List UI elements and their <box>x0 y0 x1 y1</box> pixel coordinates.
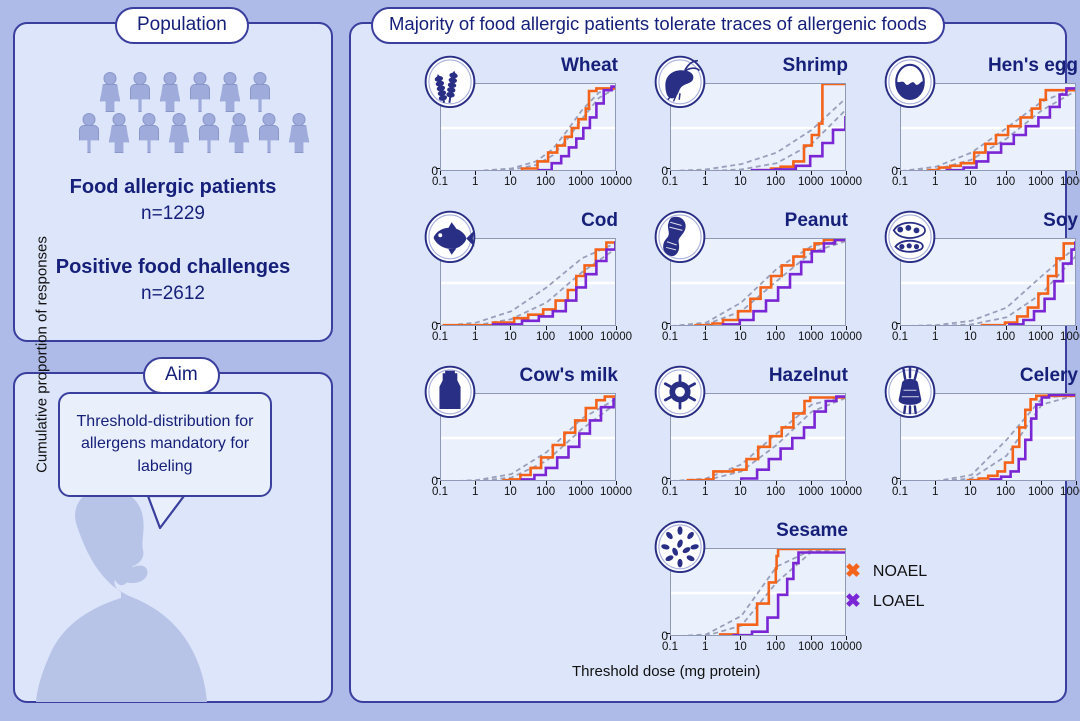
y-tick-mark <box>436 168 440 169</box>
chart-panel-title: Sesame <box>776 520 848 542</box>
person-icon <box>157 72 183 110</box>
x-tick-label: 10000 <box>830 486 862 498</box>
x-tick-mark <box>581 171 582 175</box>
x-tick-label: 100 <box>996 486 1015 498</box>
chart-panel-title: Peanut <box>785 210 848 232</box>
x-tick-mark <box>1006 326 1007 330</box>
sesame-icon <box>654 516 706 573</box>
x-tick-label: 100 <box>996 331 1015 343</box>
wheat-icon <box>424 51 476 107</box>
x-tick-mark <box>546 481 547 485</box>
x-tick-mark <box>846 171 847 175</box>
graphical-abstract: Population Food allergic patients n=1229… <box>0 0 1080 721</box>
x-tick-mark <box>510 171 511 175</box>
person-icon <box>286 113 312 151</box>
person-body-icon <box>190 84 210 112</box>
x-tick-label: 1000 <box>1028 486 1054 498</box>
x-tick-mark <box>1076 326 1077 330</box>
speech-bubble-tail <box>146 494 186 530</box>
person-icon <box>217 72 243 110</box>
shrimp-icon <box>654 51 706 108</box>
x-tick-mark <box>616 481 617 485</box>
x-tick-label: 1 <box>702 331 708 343</box>
person-head-icon <box>104 72 117 85</box>
chart-panel-cod: Cod100.1110100100010000 <box>418 210 618 360</box>
person-head-icon <box>254 72 267 85</box>
soy-icon <box>884 206 936 262</box>
x-tick-label: 0.1 <box>892 176 908 188</box>
x-tick-label: 10000 <box>830 641 862 653</box>
person-body-icon <box>139 125 159 153</box>
cod-icon <box>424 206 476 262</box>
x-tick-label: 10 <box>734 486 747 498</box>
x-tick-label: 10000 <box>600 486 632 498</box>
positive-food-challenges-label: Positive food challenges <box>13 256 333 279</box>
y-tick-mark <box>436 323 440 324</box>
chart-panel-wheat: Wheat100.1110100100010000 <box>418 55 618 205</box>
milk-icon <box>424 361 476 418</box>
thinking-person-silhouette <box>25 480 230 702</box>
x-tick-mark <box>776 171 777 175</box>
y-tick-mark <box>896 168 900 169</box>
chart-panel-peanut: Peanut100.1110100100010000 <box>648 210 848 360</box>
x-tick-mark <box>900 171 901 175</box>
legend-label: LOAEL <box>873 593 925 611</box>
x-tick-mark <box>1076 171 1077 175</box>
x-tick-label: 1 <box>702 176 708 188</box>
x-tick-label: 1 <box>472 176 478 188</box>
x-tick-label: 1000 <box>798 641 824 653</box>
x-tick-mark <box>740 171 741 175</box>
y-tick-mark <box>896 478 900 479</box>
peanut-icon <box>654 206 706 263</box>
x-tick-label: 1 <box>702 486 708 498</box>
person-icon <box>106 113 132 151</box>
x-tick-label: 1000 <box>1028 176 1054 188</box>
x-tick-label: 1 <box>472 331 478 343</box>
person-body-icon <box>169 125 189 153</box>
x-tick-mark <box>440 481 441 485</box>
x-tick-label: 10 <box>734 331 747 343</box>
y-axis-label: Cumulative proportion of responses <box>34 230 51 480</box>
x-tick-mark <box>970 481 971 485</box>
y-tick-mark <box>666 168 670 169</box>
x-tick-mark <box>1006 171 1007 175</box>
x-tick-mark <box>670 171 671 175</box>
chart-panel-hen-s-egg: Hen's egg100.1110100100010000 <box>878 55 1078 205</box>
x-tick-mark <box>935 171 936 175</box>
x-tick-mark <box>705 171 706 175</box>
chart-panel-sesame: Sesame100.1110100100010000 <box>648 520 848 670</box>
x-tick-label: 100 <box>766 331 785 343</box>
x-tick-mark <box>846 326 847 330</box>
population-panel-title: Population <box>115 7 249 44</box>
person-icon <box>166 113 192 151</box>
person-body-icon <box>289 125 309 153</box>
person-head-icon <box>194 72 207 85</box>
x-tick-mark <box>616 171 617 175</box>
x-tick-label: 10000 <box>1060 176 1080 188</box>
person-head-icon <box>83 113 96 126</box>
x-tick-label: 10000 <box>1060 486 1080 498</box>
x-tick-mark <box>581 481 582 485</box>
person-icon <box>127 72 153 110</box>
x-tick-mark <box>546 171 547 175</box>
x-tick-mark <box>811 326 812 330</box>
x-axis: 0.1110100100010000 <box>440 171 616 193</box>
x-tick-mark <box>970 171 971 175</box>
x-tick-label: 0.1 <box>432 331 448 343</box>
x-tick-mark <box>1006 481 1007 485</box>
x-tick-label: 0.1 <box>662 641 678 653</box>
chart-panel-cow-s-milk: Cow's milk100.1110100100010000 <box>418 365 618 515</box>
chart-panel-title: Hen's egg <box>988 55 1078 77</box>
x-tick-mark <box>935 326 936 330</box>
aim-panel-title: Aim <box>143 357 220 394</box>
x-axis: 0.1110100100010000 <box>670 636 846 658</box>
x-tick-mark <box>740 481 741 485</box>
y-tick-mark <box>666 323 670 324</box>
x-tick-label: 100 <box>536 486 555 498</box>
hazelnut-icon <box>654 361 706 417</box>
food-allergic-patients-count: n=1229 <box>13 203 333 225</box>
celery-icon <box>884 361 936 418</box>
food-allergic-patients-label: Food allergic patients <box>13 176 333 199</box>
x-tick-label: 10000 <box>600 331 632 343</box>
person-icon <box>247 72 273 110</box>
y-tick-mark <box>896 323 900 324</box>
person-head-icon <box>134 72 147 85</box>
x-tick-label: 10 <box>964 331 977 343</box>
person-icon <box>196 113 222 151</box>
egg-icon <box>884 51 936 108</box>
x-axis: 0.1110100100010000 <box>900 481 1076 503</box>
chart-panel-shrimp: Shrimp100.1110100100010000 <box>648 55 848 205</box>
x-axis: 0.1110100100010000 <box>670 481 846 503</box>
person-icon <box>97 72 123 110</box>
legend-item: ✖NOAEL <box>845 562 927 581</box>
x-tick-mark <box>670 481 671 485</box>
legend-marker-icon: ✖ <box>845 562 861 581</box>
x-tick-label: 10000 <box>830 331 862 343</box>
x-tick-label: 0.1 <box>662 176 678 188</box>
person-body-icon <box>79 125 99 153</box>
x-tick-label: 0.1 <box>662 331 678 343</box>
x-tick-mark <box>1076 481 1077 485</box>
x-tick-mark <box>1041 171 1042 175</box>
person-body-icon <box>250 84 270 112</box>
chart-panel-title: Celery <box>1020 365 1078 387</box>
x-axis: 0.1110100100010000 <box>670 326 846 348</box>
x-tick-mark <box>776 481 777 485</box>
person-icon <box>256 113 282 151</box>
chart-legend: ✖NOAEL✖LOAEL <box>845 562 927 622</box>
y-tick-mark <box>666 633 670 634</box>
x-tick-mark <box>581 326 582 330</box>
hazelnut-icon <box>654 361 706 418</box>
x-tick-mark <box>846 481 847 485</box>
peanut-icon <box>654 206 706 262</box>
x-tick-mark <box>1041 326 1042 330</box>
chart-panel-title: Hazelnut <box>769 365 848 387</box>
sesame-icon <box>654 516 706 572</box>
x-tick-label: 1 <box>932 331 938 343</box>
chart-panel-soy: Soy100.1110100100010000 <box>878 210 1078 360</box>
x-tick-label: 1 <box>472 486 478 498</box>
milk-icon <box>424 361 476 417</box>
x-tick-label: 100 <box>536 331 555 343</box>
people-row-1 <box>97 72 273 110</box>
chart-panel-hazelnut: Hazelnut100.1110100100010000 <box>648 365 848 515</box>
x-tick-mark <box>740 636 741 640</box>
x-tick-mark <box>740 326 741 330</box>
x-tick-mark <box>935 481 936 485</box>
x-tick-mark <box>510 481 511 485</box>
x-tick-label: 10 <box>504 176 517 188</box>
x-tick-mark <box>900 326 901 330</box>
x-tick-label: 10000 <box>830 176 862 188</box>
person-head-icon <box>113 113 126 126</box>
person-body-icon <box>220 84 240 112</box>
person-head-icon <box>173 113 186 126</box>
x-tick-label: 1000 <box>568 176 594 188</box>
x-tick-mark <box>846 636 847 640</box>
chart-panel-title: Shrimp <box>783 55 848 77</box>
x-tick-label: 1000 <box>798 331 824 343</box>
person-body-icon <box>199 125 219 153</box>
person-body-icon <box>160 84 180 112</box>
aim-speech-bubble: Threshold-distribution for allergens man… <box>58 392 272 497</box>
x-tick-label: 0.1 <box>662 486 678 498</box>
y-tick-mark <box>436 478 440 479</box>
wheat-icon <box>424 51 476 108</box>
x-tick-label: 1000 <box>568 486 594 498</box>
x-tick-mark <box>475 326 476 330</box>
x-tick-label: 10 <box>504 486 517 498</box>
x-tick-label: 100 <box>996 176 1015 188</box>
x-tick-label: 1 <box>932 176 938 188</box>
x-tick-mark <box>776 636 777 640</box>
x-tick-mark <box>546 326 547 330</box>
x-tick-mark <box>811 636 812 640</box>
person-head-icon <box>233 113 246 126</box>
person-head-icon <box>224 72 237 85</box>
person-body-icon <box>109 125 129 153</box>
x-tick-mark <box>475 481 476 485</box>
x-tick-mark <box>705 636 706 640</box>
x-tick-label: 1 <box>932 486 938 498</box>
x-tick-mark <box>705 481 706 485</box>
legend-marker-icon: ✖ <box>845 592 861 611</box>
x-tick-mark <box>440 171 441 175</box>
soy-icon <box>884 206 936 263</box>
x-tick-mark <box>1041 481 1042 485</box>
chart-panel-title: Cod <box>581 210 618 232</box>
legend-item: ✖LOAEL <box>845 592 927 611</box>
x-tick-mark <box>811 171 812 175</box>
egg-icon <box>884 51 936 107</box>
x-tick-label: 10 <box>734 641 747 653</box>
person-icon <box>187 72 213 110</box>
person-head-icon <box>293 113 306 126</box>
chart-panel-title: Wheat <box>561 55 618 77</box>
x-tick-label: 0.1 <box>892 331 908 343</box>
x-axis: 0.1110100100010000 <box>440 326 616 348</box>
x-tick-label: 0.1 <box>432 176 448 188</box>
x-tick-label: 10000 <box>1060 331 1080 343</box>
x-tick-mark <box>705 326 706 330</box>
x-tick-label: 100 <box>766 486 785 498</box>
x-tick-mark <box>970 326 971 330</box>
x-tick-label: 10 <box>734 176 747 188</box>
people-row-2 <box>76 113 312 151</box>
x-tick-label: 0.1 <box>432 486 448 498</box>
person-icon <box>136 113 162 151</box>
x-axis: 0.1110100100010000 <box>900 171 1076 193</box>
results-panel-title: Majority of food allergic patients toler… <box>371 7 945 44</box>
celery-icon <box>884 361 936 417</box>
person-body-icon <box>100 84 120 112</box>
x-tick-label: 1000 <box>798 486 824 498</box>
x-tick-mark <box>670 326 671 330</box>
x-tick-label: 100 <box>766 641 785 653</box>
person-icon <box>76 113 102 151</box>
x-tick-label: 1000 <box>798 176 824 188</box>
x-tick-label: 10000 <box>600 176 632 188</box>
person-body-icon <box>229 125 249 153</box>
x-tick-mark <box>510 326 511 330</box>
shrimp-icon <box>654 51 706 107</box>
x-tick-label: 1000 <box>1028 331 1054 343</box>
legend-label: NOAEL <box>873 563 927 581</box>
chart-panel-title: Cow's milk <box>520 365 619 387</box>
x-tick-mark <box>776 326 777 330</box>
person-head-icon <box>263 113 276 126</box>
y-tick-mark <box>666 478 670 479</box>
x-tick-label: 100 <box>766 176 785 188</box>
x-axis: 0.1110100100010000 <box>900 326 1076 348</box>
x-tick-label: 10 <box>504 331 517 343</box>
aim-bubble-text: Threshold-distribution for allergens man… <box>70 411 260 477</box>
x-tick-label: 1000 <box>568 331 594 343</box>
x-tick-mark <box>900 481 901 485</box>
positive-food-challenges-count: n=2612 <box>13 283 333 305</box>
x-axis: 0.1110100100010000 <box>670 171 846 193</box>
x-tick-mark <box>475 171 476 175</box>
cod-icon <box>424 206 476 263</box>
x-tick-mark <box>616 326 617 330</box>
person-head-icon <box>164 72 177 85</box>
x-tick-mark <box>670 636 671 640</box>
x-tick-mark <box>440 326 441 330</box>
x-tick-label: 0.1 <box>892 486 908 498</box>
x-axis: 0.1110100100010000 <box>440 481 616 503</box>
person-body-icon <box>259 125 279 153</box>
person-head-icon <box>203 113 216 126</box>
x-tick-label: 10 <box>964 176 977 188</box>
x-tick-mark <box>811 481 812 485</box>
person-head-icon <box>143 113 156 126</box>
chart-panel-celery: Celery100.1110100100010000 <box>878 365 1078 515</box>
x-tick-label: 100 <box>536 176 555 188</box>
x-tick-label: 1 <box>702 641 708 653</box>
x-tick-label: 10 <box>964 486 977 498</box>
person-icon <box>226 113 252 151</box>
person-body-icon <box>130 84 150 112</box>
chart-panel-title: Soy <box>1043 210 1078 232</box>
